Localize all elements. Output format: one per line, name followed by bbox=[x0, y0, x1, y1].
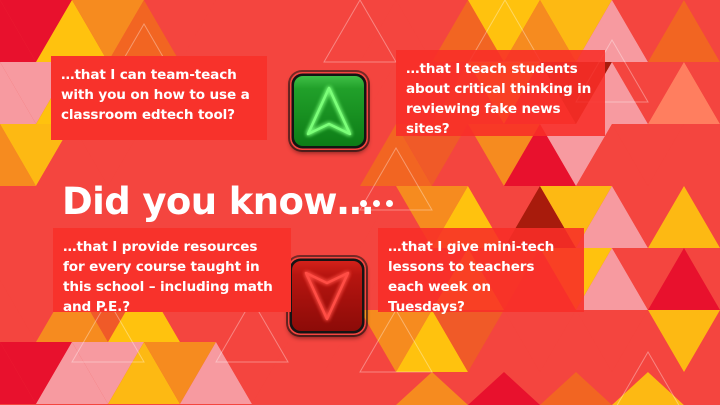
page-title: Did you know… bbox=[62, 180, 373, 224]
callout-mini-tech: …that I give mini-tech lessons to teache… bbox=[378, 228, 584, 312]
slide-canvas: …that I can team-teach with you on how t… bbox=[0, 0, 720, 405]
callout-team-teach: …that I can team-teach with you on how t… bbox=[51, 56, 267, 140]
ellipsis-dots bbox=[360, 200, 393, 207]
dot-2 bbox=[373, 200, 380, 207]
callout-resources: …that I provide resources for every cour… bbox=[53, 228, 291, 312]
callout-critical-thinking: …that I teach students about critical th… bbox=[396, 50, 605, 136]
dot-1 bbox=[360, 200, 367, 207]
green-arrow-up-icon[interactable] bbox=[290, 72, 368, 150]
red-arrow-down-icon[interactable] bbox=[288, 257, 366, 335]
dot-3 bbox=[386, 200, 393, 207]
